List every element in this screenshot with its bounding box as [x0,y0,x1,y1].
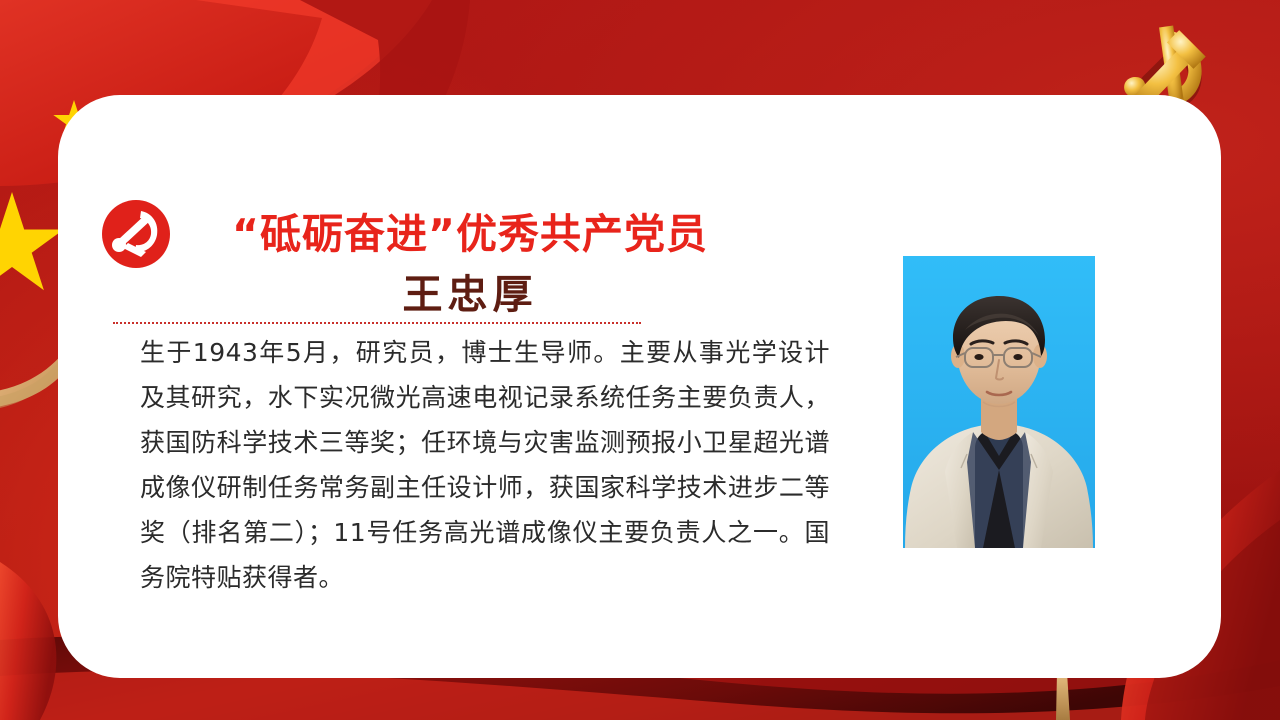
biography-text: 生于1943年5月，研究员，博士生导师。主要从事光学设计及其研究，水下实况微光高… [140,330,830,600]
slide-root: “砥砺奋进”优秀共产党员 王忠厚 生于1943年5月，研究员，博士生导师。主要从… [0,0,1280,720]
party-emblem-icon [101,199,171,269]
badge-circle [102,200,170,268]
portrait-photo [903,256,1095,548]
page-title: “砥砺奋进”优秀共产党员 [190,200,750,260]
dotted-divider [113,322,641,324]
person-name: 王忠厚 [190,262,750,320]
bottom-left-ribbon-curl [0,562,56,720]
flag-star-large [0,192,64,290]
biography-paragraph: 生于1943年5月，研究员，博士生导师。主要从事光学设计及其研究，水下实况微光高… [140,330,830,600]
